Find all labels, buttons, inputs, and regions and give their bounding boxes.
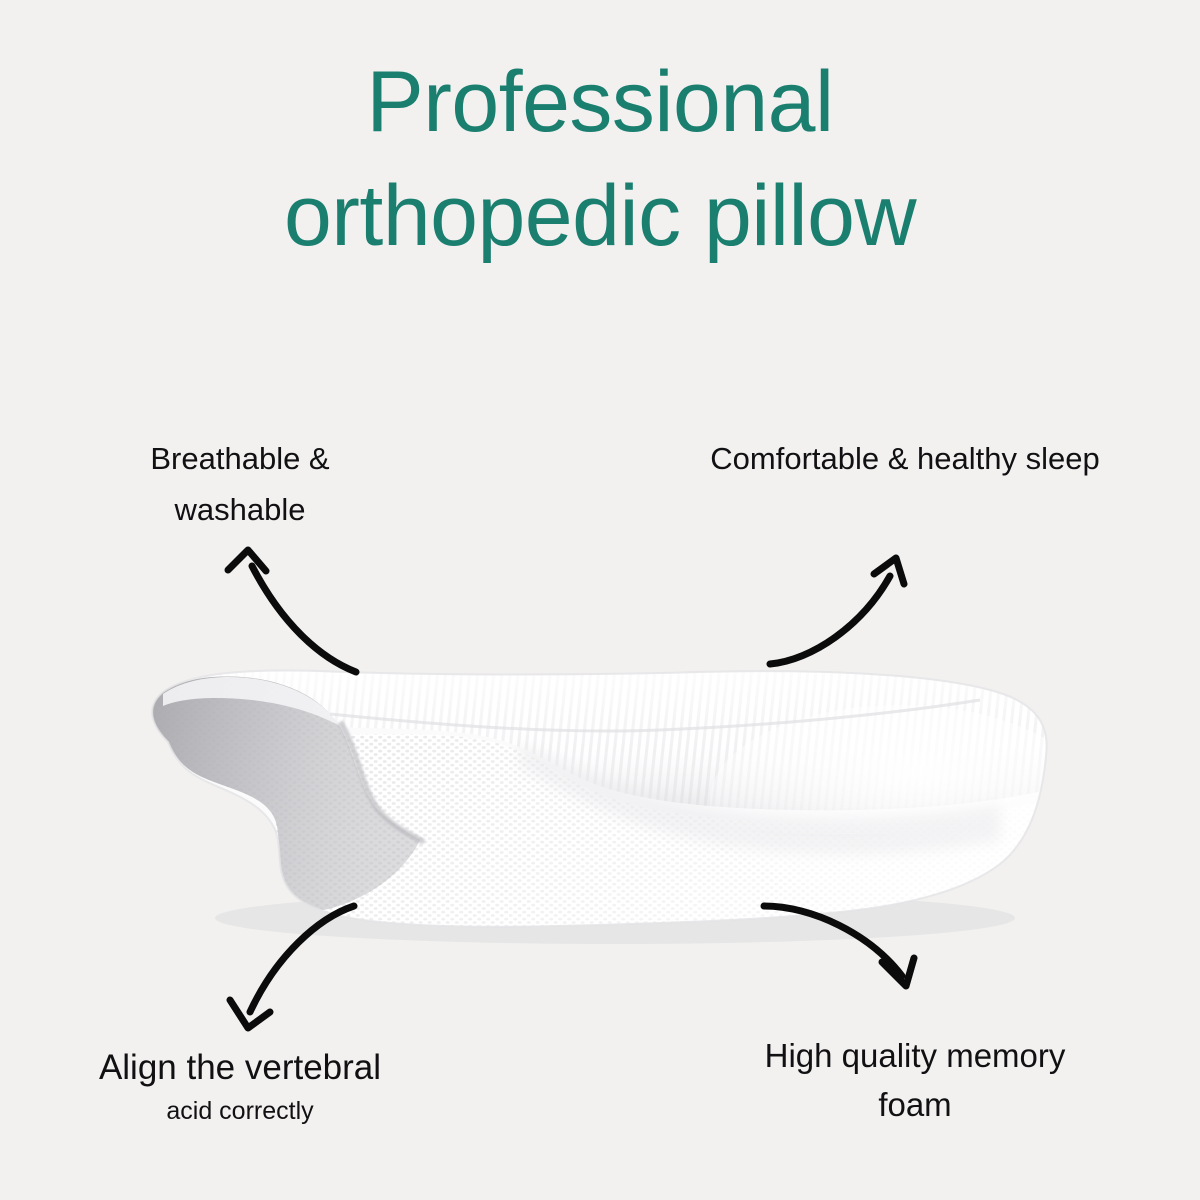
- infographic-canvas: Professional orthopedic pillow: [0, 0, 1200, 1200]
- feature-label-comfortable: Comfortable & healthy sleep: [640, 434, 1170, 485]
- feature-label-breathable: Breathable & washable: [60, 434, 420, 536]
- feature-label-align-vertebral-line2: acid correctly: [20, 1093, 460, 1131]
- feature-label-breathable-line1: Breathable &: [60, 434, 420, 485]
- product-image-orthopedic-pillow: [0, 0, 1200, 1200]
- feature-label-align-vertebral: Align the vertebral acid correctly: [20, 1043, 460, 1130]
- feature-label-memory-foam-line2: foam: [700, 1081, 1130, 1130]
- feature-label-memory-foam: High quality memory foam: [700, 1032, 1130, 1130]
- pillow-right-lobe-highlight: [710, 705, 1090, 895]
- feature-label-align-vertebral-line1: Align the vertebral: [20, 1043, 460, 1093]
- feature-label-breathable-line2: washable: [60, 485, 420, 536]
- feature-label-comfortable-line1: Comfortable & healthy sleep: [640, 434, 1170, 485]
- feature-label-memory-foam-line1: High quality memory: [700, 1032, 1130, 1081]
